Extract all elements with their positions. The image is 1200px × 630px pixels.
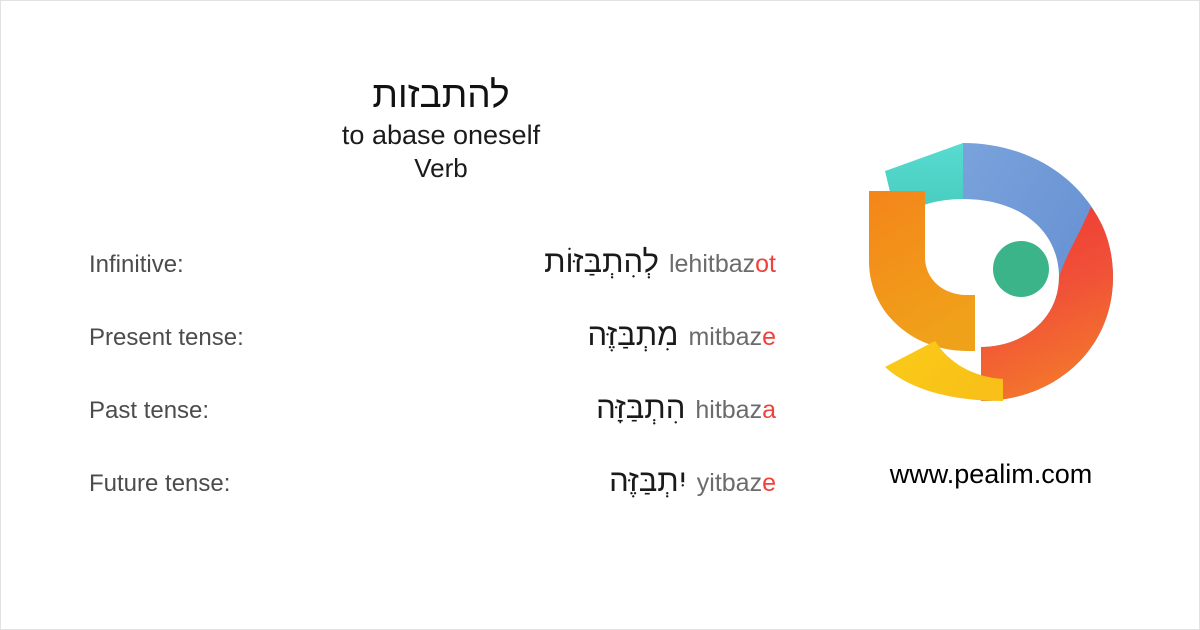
form-translit-infinitive: lehitbazot (669, 249, 776, 280)
card-header: להתבזות to abase oneself Verb (61, 73, 821, 183)
pealim-logo (863, 129, 1119, 411)
translit-accent: e (762, 469, 776, 497)
verb-card: להתבזות to abase oneself Verb Infinitive… (0, 0, 1200, 630)
row-label-present: Present tense: (89, 324, 244, 352)
translit-base: mitbaz (688, 323, 762, 351)
headword-hebrew: להתבזות (61, 73, 821, 117)
table-row: Past tense: הִתְבַּזָּה hitbaza (1, 385, 801, 458)
table-row: Future tense: יִתְבַּזֶּה yitbaze (1, 458, 801, 531)
logo-hook-orange (869, 191, 975, 351)
part-of-speech: Verb (61, 153, 821, 184)
translit-accent: e (762, 323, 776, 351)
headword-translation: to abase oneself (61, 120, 821, 152)
translit-base: yitbaz (697, 469, 762, 497)
conjugation-table: Infinitive: לְהִתְבַּזּוֹת lehitbazot Pr… (1, 239, 801, 531)
form-hebrew-infinitive: לְהִתְבַּזּוֹת (544, 243, 659, 282)
table-row: Infinitive: לְהִתְבַּזּוֹת lehitbazot (1, 239, 801, 312)
translit-base: hitbaz (695, 396, 762, 424)
form-hebrew-present: מִתְבַּזֶּה (588, 316, 679, 355)
row-label-past: Past tense: (89, 397, 209, 425)
form-hebrew-past: הִתְבַּזָּה (596, 389, 685, 428)
row-label-infinitive: Infinitive: (89, 251, 184, 279)
row-label-future: Future tense: (89, 470, 230, 498)
site-url[interactable]: www.pealim.com (821, 459, 1161, 490)
row-forms: הִתְבַּזָּה hitbaza (596, 389, 776, 428)
table-row: Present tense: מִתְבַּזֶּה mitbaze (1, 312, 801, 385)
form-hebrew-future: יִתְבַּזֶּה (609, 462, 687, 501)
form-translit-present: mitbaze (688, 322, 776, 353)
translit-accent: ot (755, 250, 776, 278)
translit-accent: a (762, 396, 776, 424)
row-forms: לְהִתְבַּזּוֹת lehitbazot (544, 243, 776, 282)
form-translit-future: yitbaze (697, 468, 776, 499)
translit-base: lehitbaz (669, 250, 755, 278)
row-forms: מִתְבַּזֶּה mitbaze (588, 316, 776, 355)
form-translit-past: hitbaza (695, 395, 776, 426)
row-forms: יִתְבַּזֶּה yitbaze (609, 462, 776, 501)
logo-dot-green (993, 241, 1049, 297)
